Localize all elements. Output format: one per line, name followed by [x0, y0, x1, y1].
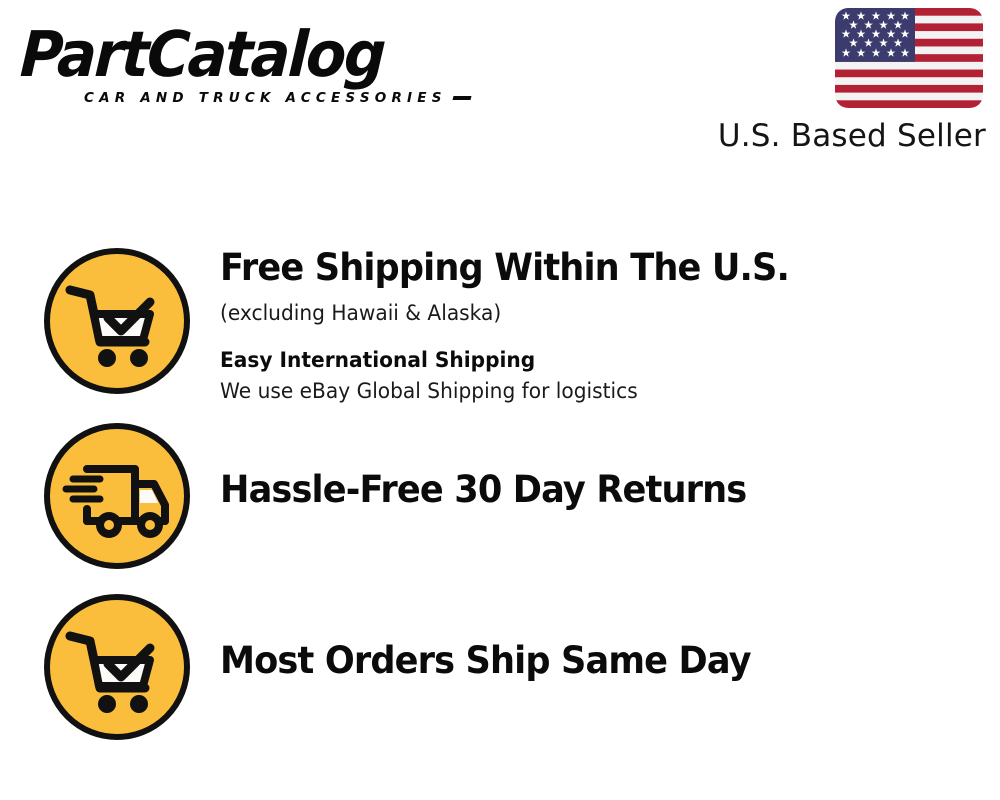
us-based-seller-badge: [834, 8, 984, 108]
feature-text-block: Hassle-Free 30 Day Returns: [220, 421, 774, 512]
feature-subline: (excluding Hawaii & Alaska): [220, 298, 795, 328]
us-based-seller-label: U.S. Based Seller: [718, 118, 986, 154]
us-flag-icon: [835, 8, 983, 108]
feature-headline: Most Orders Ship Same Day: [220, 639, 751, 683]
feature-row: Most Orders Ship Same Day: [42, 592, 779, 742]
delivery-truck-icon: [42, 421, 192, 571]
shopping-cart-check-icon: [42, 246, 192, 396]
tagline-dash-icon: [452, 96, 471, 100]
seller-banner: PartCatalog CAR AND TRUCK ACCESSORIES: [0, 0, 1000, 800]
shopping-cart-check-icon: [42, 592, 192, 742]
brand-tagline: CAR AND TRUCK ACCESSORIES: [84, 90, 447, 106]
brand-logo: PartCatalog CAR AND TRUCK ACCESSORIES: [22, 22, 492, 120]
feature-headline: Free Shipping Within The U.S.: [220, 246, 789, 290]
feature-text-block: Most Orders Ship Same Day: [220, 592, 779, 683]
feature-text-block: Free Shipping Within The U.S. (excluding…: [220, 246, 819, 405]
brand-wordmark: PartCatalog: [19, 22, 459, 88]
feature-row: Hassle-Free 30 Day Returns: [42, 421, 774, 571]
brand-tagline-row: CAR AND TRUCK ACCESSORIES: [22, 90, 492, 106]
feature-row: Free Shipping Within The U.S. (excluding…: [42, 246, 819, 405]
feature-headline: Hassle-Free 30 Day Returns: [220, 468, 746, 512]
feature-subline-note: We use eBay Global Shipping for logistic…: [220, 377, 795, 405]
feature-subline-strong: Easy International Shipping: [220, 346, 795, 374]
